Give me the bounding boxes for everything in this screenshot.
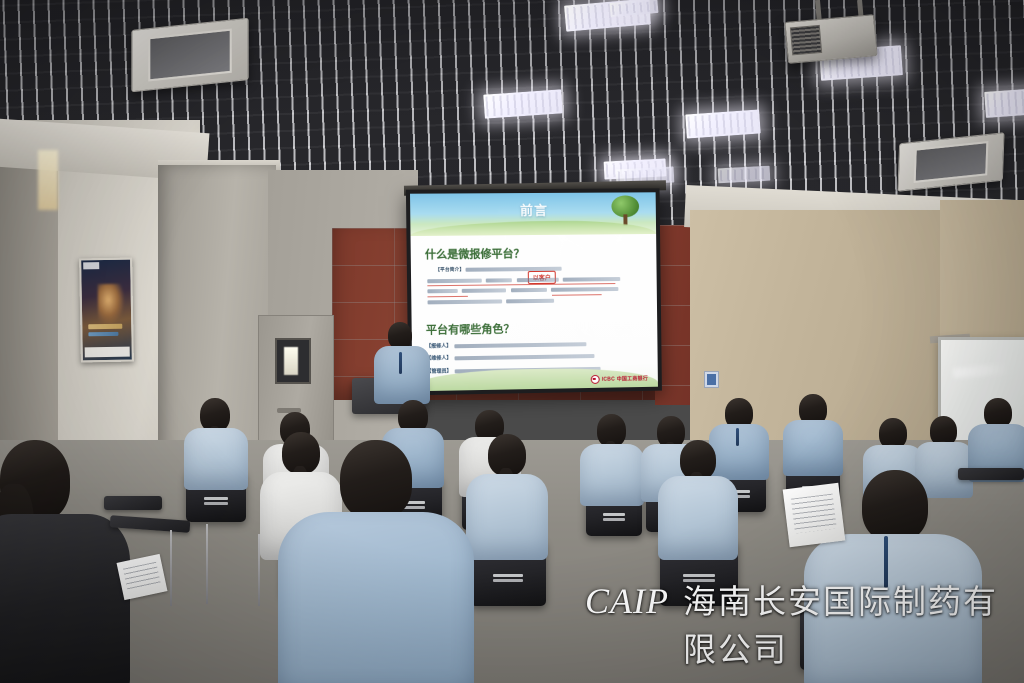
attendee-head [862,470,928,542]
projection-screen: 前言 什么是微报修平台？ 以客户 【平台简介】 [406,188,662,395]
icbc-mark-icon [591,375,600,384]
poster-logo [83,262,99,269]
attendee-torso [580,444,644,506]
chair-leg [258,534,260,606]
attendee-torso [658,476,738,560]
slide-bullet: 【维修人】 [426,352,648,365]
attendee-torso [466,474,548,560]
wall-light-niche [38,150,58,210]
attendee-torso [0,514,130,683]
slide-heading-1: 什么是微报修平台？ [425,244,647,262]
attendee-torso [278,512,474,683]
presenter-lanyard [399,352,402,374]
slide-heading-2: 平台有哪些角色？ [426,318,648,337]
slide-body-line [428,296,648,308]
icbc-logo: ICBC 中国工商银行 [591,374,648,384]
desk-arm [104,496,162,510]
attendee-lanyard [736,428,739,446]
slide-intro-tag: 【平台简介】 [435,267,464,272]
slide-body-line [427,285,647,296]
attendee-head [340,440,412,520]
ceiling-panel-light [718,166,771,184]
slide-intro-line: 【平台简介】 [435,264,647,275]
slide-bullet-tag: 【报修人】 [426,343,451,349]
tree-icon [608,195,642,227]
poster-artwork [98,284,125,324]
slide-body-line [427,274,647,285]
chair-leg [206,524,208,604]
ceiling-ac-unit-left [131,18,248,93]
slide-bullet: 【报修人】 [426,339,648,352]
attendee-torso [783,420,843,476]
ceiling-panel-light [984,88,1024,118]
slide-bullet-tag: 【维修人】 [426,356,451,362]
poster-headline [88,324,122,330]
presenter-head [388,322,412,349]
attendee-torso [184,428,248,490]
poster-footer [85,347,130,358]
icbc-logo-text: ICBC 中国工商银行 [602,375,648,383]
presentation-slide: 前言 什么是微报修平台？ 以客户 【平台简介】 [410,192,658,391]
attendee-torso [709,424,769,480]
ceiling-projector [784,14,877,64]
attendee-torso [804,534,982,683]
slide-header-banner: 前言 [410,192,656,236]
wall-sign [704,371,719,388]
door-window [275,338,311,384]
ceiling-panel-light [685,109,760,138]
poster-subline [88,332,118,337]
chair-leg [170,530,172,606]
desk-arm [958,468,1024,480]
photograph-training-room: 前言 什么是微报修平台？ 以客户 【平台简介】 [0,0,1024,683]
attendee-lanyard [884,536,888,588]
presenter-torso [374,346,430,404]
handout-paper[interactable] [783,483,846,547]
slide-body: 什么是微报修平台？ 以客户 【平台简介】 [411,234,658,387]
framed-wall-poster [79,258,134,363]
